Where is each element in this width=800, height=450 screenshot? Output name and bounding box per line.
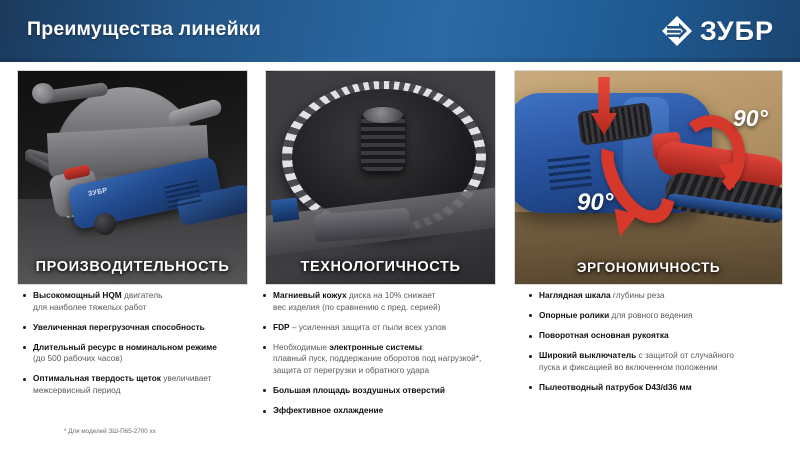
bullet-sub: пуска и фиксацией во включенном положени… <box>539 362 718 372</box>
list-item: Большая площадь воздушных отверстий <box>262 385 506 397</box>
list-item: FDP – усиленная защита от пыли всех узло… <box>262 322 506 334</box>
bullet-sub: плавный пуск, поддержание оборотов под н… <box>273 353 481 363</box>
bullet-strong: Длительный ресурс в номинальном режиме <box>33 342 217 352</box>
list-item: Магниевый кожух диска на 10% снижает вес… <box>262 290 506 313</box>
bullet-prefix: Необходимые <box>273 342 329 352</box>
panel-performance: ЗУБР ПРОИЗВОДИТЕЛЬНОСТЬ <box>17 70 248 285</box>
bullet-strong: Эффективное охлаждение <box>273 405 383 415</box>
bullet-strong: Большая площадь воздушных отверстий <box>273 385 445 395</box>
slide-root: Преимущества линейки ЗУБР <box>0 0 800 450</box>
bullet-strong: Опорные ролики <box>539 310 609 320</box>
photo-blue-accent <box>271 197 299 222</box>
brand-logo: ЗУБР <box>660 14 774 48</box>
list-item: Опорные ролики для ровного ведения <box>528 310 786 322</box>
bullet-strong: Поворотная основная рукоятка <box>539 330 669 340</box>
bullet-sub: (до 500 рабочих часов) <box>33 353 122 363</box>
list-item: Эффективное охлаждение <box>262 405 506 417</box>
bullet-rest: диска на 10% снижает <box>347 290 436 300</box>
panel-ergonomics: 90° 90° ЭРГОНОМИЧНОСТЬ <box>514 70 783 285</box>
rotating-handle-photo: 90° 90° ЭРГОНОМИЧНОСТЬ <box>514 70 783 285</box>
photo-handle-knob <box>32 83 54 103</box>
photo-dust-port <box>167 98 223 128</box>
bullet-rest: двигатель <box>122 290 163 300</box>
bullet-sub-2: защита от перегрузки и обратного удара <box>273 365 429 375</box>
list-item: Поворотная основная рукоятка <box>528 330 786 342</box>
list-item: Высокомощный HQM двигатель для наиболее … <box>22 290 254 313</box>
list-item: Широкий выключатель с защитой от случайн… <box>528 350 786 373</box>
bullet-sub: для наиболее тяжелых работ <box>33 302 147 312</box>
bullet-list-technology: Магниевый кожух диска на 10% снижает вес… <box>262 290 506 425</box>
bullet-strong: Оптимальная твердость щеток <box>33 373 161 383</box>
bullet-strong: Наглядная шкала <box>539 290 611 300</box>
photo-guide-wheel <box>94 213 116 235</box>
bullet-list-ergonomics: Наглядная шкала глубины реза Опорные рол… <box>528 290 786 402</box>
bullet-rest: с защитой от случайного <box>636 350 734 360</box>
footnote: * Для моделей ЗШ-П65-2700 хх <box>64 428 156 435</box>
diamond-disc-photo: ТЕХНОЛОГИЧНОСТЬ <box>265 70 496 285</box>
list-item: Наглядная шкала глубины реза <box>528 290 786 302</box>
list-item: Оптимальная твердость щеток увеличивает … <box>22 373 254 396</box>
bullet-strong: Пылеотводный патрубок D43/d36 мм <box>539 382 692 392</box>
list-item: Увеличенная перегрузочная способность <box>22 322 254 334</box>
bullet-strong: Высокомощный HQM <box>33 290 122 300</box>
header-bar: Преимущества линейки ЗУБР <box>0 0 800 62</box>
photo-tool-vents <box>547 155 592 193</box>
bullet-list-performance: Высокомощный HQM двигатель для наиболее … <box>22 290 254 405</box>
list-item: Пылеотводный патрубок D43/d36 мм <box>528 382 786 394</box>
panel-caption: ЭРГОНОМИЧНОСТЬ <box>515 260 782 275</box>
photo-spindle-top <box>363 107 403 123</box>
zubr-diamond-icon <box>660 14 694 48</box>
angle-label-right: 90° <box>733 105 768 132</box>
angle-label-left: 90° <box>577 189 613 217</box>
list-item: Длительный ресурс в номинальном режиме (… <box>22 342 254 365</box>
bullet-sub: межсервисный период <box>33 385 120 395</box>
list-item: Необходимые электронные системы: плавный… <box>262 342 506 377</box>
bullet-rest: увеличивает <box>161 373 212 383</box>
panel-caption: ПРОИЗВОДИТЕЛЬНОСТЬ <box>18 259 247 275</box>
bullet-rest: – усиленная защита от пыли всех узлов <box>290 322 447 332</box>
bullet-strong: Широкий выключатель <box>539 350 636 360</box>
panel-caption: ТЕХНОЛОГИЧНОСТЬ <box>266 259 495 275</box>
photo-columns: ЗУБР ПРОИЗВОДИТЕЛЬНОСТЬ ТЕХНОЛОГИЧНОСТЬ <box>0 70 800 285</box>
bullet-strong: FDP <box>273 322 290 332</box>
page-title: Преимущества линейки <box>27 18 261 41</box>
angle-grinder-photo: ЗУБР ПРОИЗВОДИТЕЛЬНОСТЬ <box>17 70 248 285</box>
bullet-rest: для ровного ведения <box>609 310 692 320</box>
brand-wordmark: ЗУБР <box>700 14 774 48</box>
bullet-rest: глубины реза <box>611 290 665 300</box>
panel-technology: ТЕХНОЛОГИЧНОСТЬ <box>265 70 496 285</box>
bullet-strong: Увеличенная перегрузочная способность <box>33 322 205 332</box>
bullet-rest: : <box>422 342 424 352</box>
bullet-sub: вес изделия (по сравнению с пред. серией… <box>273 302 440 312</box>
bullet-strong: электронные системы <box>329 342 422 352</box>
bullet-strong: Магниевый кожух <box>273 290 347 300</box>
